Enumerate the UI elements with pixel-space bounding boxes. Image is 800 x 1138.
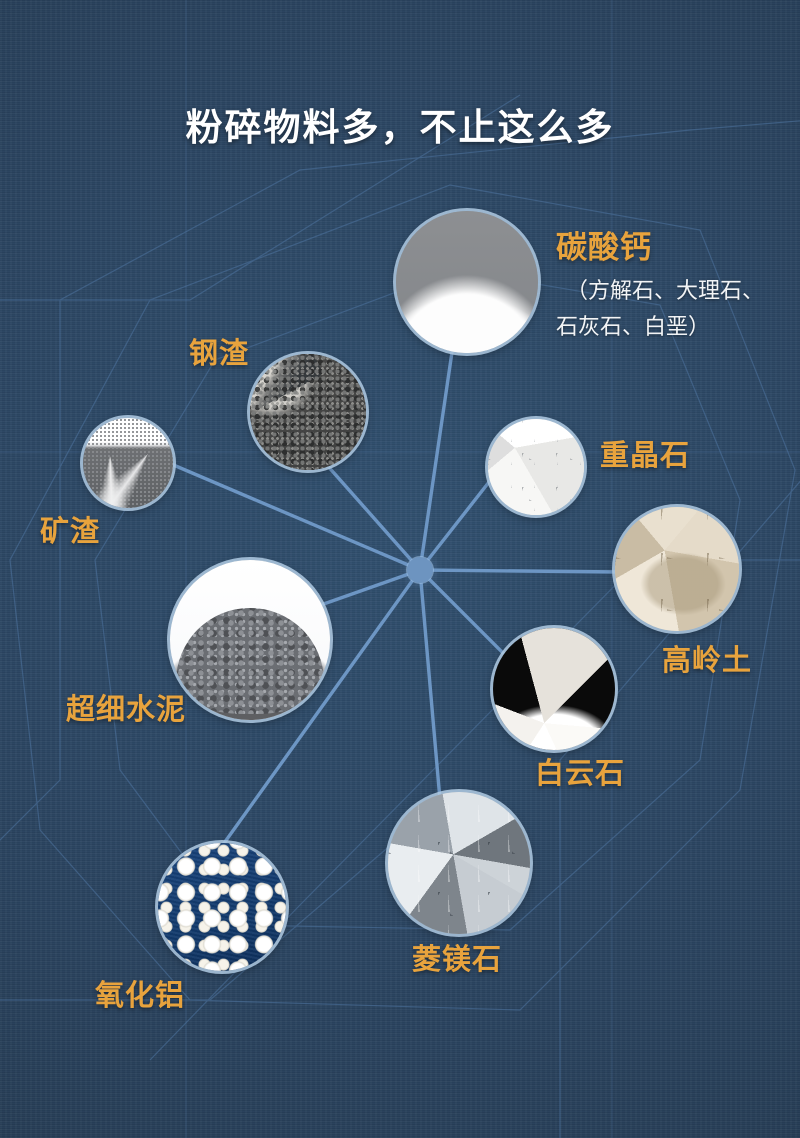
- material-circle-calcium-carbonate[interactable]: [396, 211, 538, 353]
- barite-rock-photo: [488, 419, 584, 515]
- material-circle-aluminium-oxide[interactable]: [158, 843, 286, 971]
- infographic-poster: 粉碎物料多，不止这么多 碳酸钙 （方解石、大理石、 石灰石、白垩） 钢渣 矿渣 …: [0, 0, 800, 1138]
- center-hub: [407, 557, 433, 583]
- material-sublabel-calcium-carbonate-line1: （方解石、大理石、: [566, 274, 764, 308]
- material-circle-steel-slag[interactable]: [250, 354, 366, 470]
- white-powder-photo: [396, 211, 538, 353]
- material-circle-kaolin[interactable]: [615, 507, 739, 631]
- material-label-barite: 重晶石: [600, 432, 690, 474]
- material-label-ultrafine-cement: 超细水泥: [66, 686, 186, 728]
- slag-photo: [83, 418, 173, 508]
- cement-powder-photo: [170, 560, 330, 720]
- magnesite-rock-photo: [388, 792, 530, 934]
- material-circle-ultrafine-cement[interactable]: [170, 560, 330, 720]
- steel-slag-photo: [250, 354, 366, 470]
- page-title: 粉碎物料多，不止这么多: [0, 97, 800, 151]
- material-label-magnesite: 菱镁石: [412, 936, 502, 978]
- material-label-dolomite: 白云石: [535, 750, 625, 792]
- kaolin-rock-photo: [615, 507, 739, 631]
- alumina-balls-photo: [158, 843, 286, 971]
- material-circle-barite[interactable]: [488, 419, 584, 515]
- material-circle-mineral-slag[interactable]: [83, 418, 173, 508]
- dolomite-rock-photo: [493, 628, 615, 750]
- material-sublabel-calcium-carbonate-line2: 石灰石、白垩）: [556, 310, 710, 344]
- material-label-kaolin: 高岭土: [662, 637, 752, 679]
- material-circle-magnesite[interactable]: [388, 792, 530, 934]
- material-label-mineral-slag: 矿渣: [40, 508, 100, 550]
- material-label-steel-slag: 钢渣: [189, 330, 249, 372]
- material-label-aluminium-oxide: 氧化铝: [95, 972, 185, 1014]
- material-label-calcium-carbonate: 碳酸钙: [556, 222, 652, 267]
- material-circle-dolomite[interactable]: [493, 628, 615, 750]
